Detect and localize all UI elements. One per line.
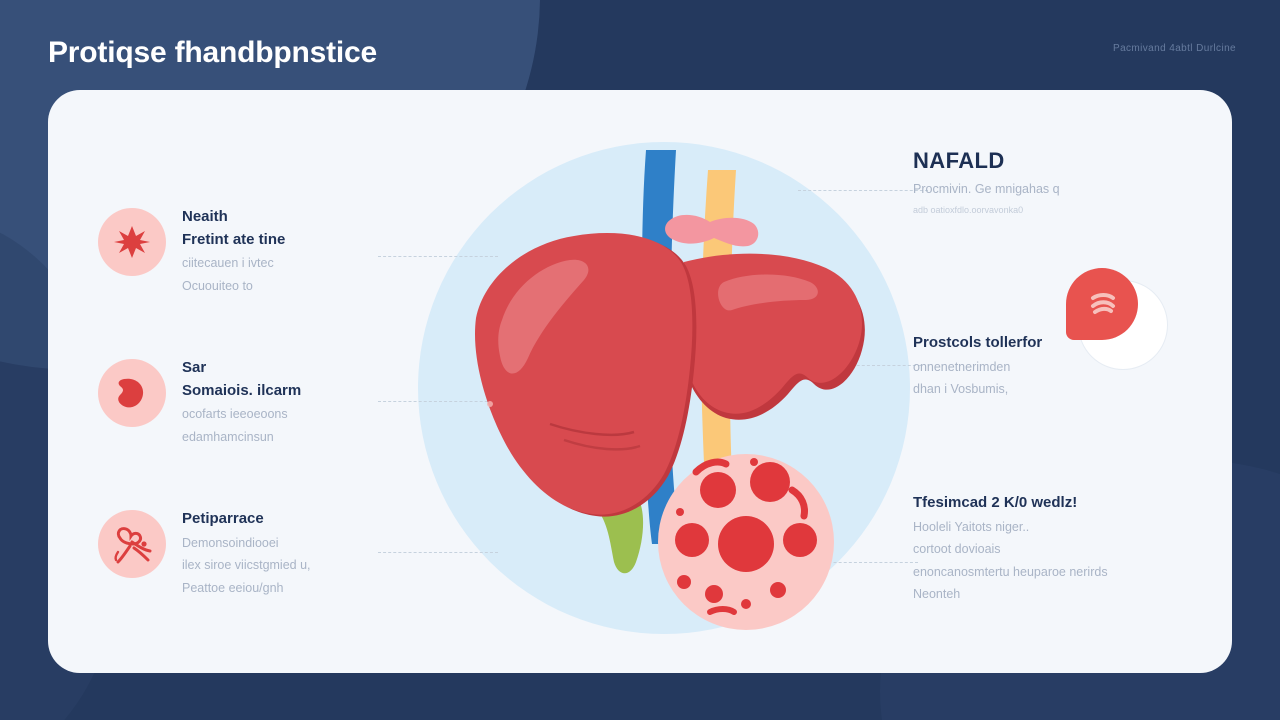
fat-droplet-splat-icon [98, 208, 166, 276]
right-feature-text-1: NAFALD Procmivin. Ge mnigahas q adb oati… [913, 142, 1060, 217]
slide-eyebrow-label: Pacmivand 4abtl Durlcine [1113, 43, 1236, 54]
left-feature-body-3a: Demonsoindiooei [182, 533, 311, 554]
right-feature-body-2a: onnenetnerimden [913, 357, 1042, 378]
right-feature-body-2b: dhan i Vosbumis, [913, 379, 1042, 400]
fat-cell-arc-3 [710, 609, 734, 612]
right-feature-body-3d: Neonteh [913, 584, 1108, 605]
right-feature-title-1: NAFALD [913, 144, 1060, 177]
fat-cell-1 [700, 472, 736, 508]
content-card: Neaith Fretint ate tine ciitecauen i ivt… [48, 90, 1232, 673]
left-feature-item-3[interactable]: Petiparrace Demonsoindiooei ilex siroe v… [98, 506, 311, 598]
right-feature-title-2: Prostcols tollerfor [913, 332, 1042, 355]
fat-cell-core [718, 516, 774, 572]
left-feature-body-1b: Ocuouiteo to [182, 276, 285, 297]
vessel-loop-icon [98, 510, 166, 578]
slide-root: Protiqse fhandbpnstice Pacmivand 4abtl D… [0, 0, 1280, 720]
right-feature-item-1[interactable]: NAFALD Procmivin. Ge mnigahas q adb oati… [913, 142, 1060, 217]
left-feature-text-3: Petiparrace Demonsoindiooei ilex siroe v… [182, 506, 311, 598]
fat-cell-8 [741, 599, 751, 609]
left-feature-body-2b: edamhamcinsun [182, 427, 301, 448]
right-feature-body-3c: enoncanosmtertu heuparoe nerirds [913, 562, 1108, 583]
fat-cell-5 [705, 585, 723, 603]
right-feature-column: NAFALD Procmivin. Ge mnigahas q adb oati… [913, 90, 1213, 673]
left-feature-body-3b: ilex siroe viicstgmied u, [182, 555, 311, 576]
fat-cell-3 [675, 523, 709, 557]
left-feature-title-3a: Petiparrace [182, 508, 311, 531]
right-feature-body-3a: Hooleli Yaitots niger.. [913, 517, 1108, 538]
left-feature-item-2[interactable]: Sar Somaiois. ilcarm ocofarts ieeoeoons … [98, 355, 301, 447]
right-feature-caption-1: adb oatioxfdlo.oorvavonka0 [913, 203, 1060, 218]
left-feature-title-2b: Somaiois. ilcarm [182, 380, 301, 403]
left-feature-body-2a: ocofarts ieeoeoons [182, 404, 301, 425]
right-feature-item-2[interactable]: Prostcols tollerfor onnenetnerimden dhan… [913, 330, 1042, 400]
left-feature-text-2: Sar Somaiois. ilcarm ocofarts ieeoeoons … [182, 355, 301, 447]
fat-cell-9 [676, 508, 684, 516]
kidney-bean-icon [98, 359, 166, 427]
speech-bubble-waves-icon[interactable] [1066, 268, 1138, 340]
left-feature-title-2a: Sar [182, 357, 301, 380]
right-feature-title-3: Tfesimcad 2 K/0 wedlz! [913, 492, 1108, 515]
fat-cell-2 [750, 462, 790, 502]
left-feature-text-1: Neaith Fretint ate tine ciitecauen i ivt… [182, 204, 285, 296]
liver-speck [487, 401, 493, 407]
fat-cell-6 [770, 582, 786, 598]
left-feature-title-1a: Neaith [182, 206, 285, 229]
liver-anatomy-illustration [418, 142, 910, 634]
left-feature-body-1a: ciitecauen i ivtec [182, 253, 285, 274]
left-feature-column: Neaith Fretint ate tine ciitecauen i ivt… [98, 90, 398, 673]
left-feature-item-1[interactable]: Neaith Fretint ate tine ciitecauen i ivt… [98, 204, 285, 296]
right-feature-text-2: Prostcols tollerfor onnenetnerimden dhan… [913, 330, 1042, 400]
left-feature-body-3c: Peattoe eeiou/gnh [182, 578, 311, 599]
right-feature-body-3b: cortoot dovioais [913, 539, 1108, 560]
right-feature-item-3[interactable]: Tfesimcad 2 K/0 wedlz! Hooleli Yaitots n… [913, 490, 1108, 605]
left-feature-title-1b: Fretint ate tine [182, 229, 285, 252]
page-title: Protiqse fhandbpnstice [48, 36, 377, 70]
right-feature-body-1: Procmivin. Ge mnigahas q [913, 179, 1060, 200]
fat-cell-7 [677, 575, 691, 589]
fat-cell-4 [783, 523, 817, 557]
right-feature-text-3: Tfesimcad 2 K/0 wedlz! Hooleli Yaitots n… [913, 490, 1108, 605]
fat-cell-10 [750, 458, 758, 466]
